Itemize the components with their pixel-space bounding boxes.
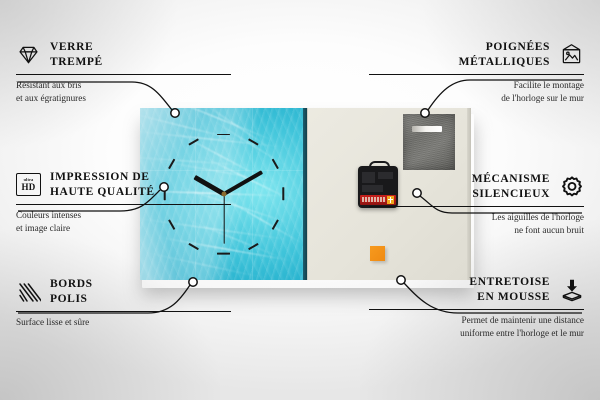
callout-subtitle: Permet de maintenir une distanceuniforme… xyxy=(369,314,584,339)
callout-rule xyxy=(369,309,584,310)
callout-title: MÉCANISMESILENCIEUX xyxy=(472,172,550,201)
foam-spacer xyxy=(370,246,385,261)
callout-title: BORDSPOLIS xyxy=(50,277,93,306)
callout-subtitle: Les aiguilles de l'horlogene font aucun … xyxy=(369,211,584,236)
gear-icon xyxy=(559,174,584,199)
ultra-hd-icon: ultra HD xyxy=(16,172,41,197)
press-down-pad-icon xyxy=(559,277,584,302)
callout-verre-trempe[interactable]: VERRETREMPÉ Résistant aux briset aux égr… xyxy=(16,40,231,104)
hour-marker-6 xyxy=(217,253,230,255)
callout-subtitle: Surface lisse et sûre xyxy=(16,316,231,328)
picture-frame-icon xyxy=(559,42,584,67)
callout-impression-haute-qualite[interactable]: ultra HD IMPRESSION DEHAUTE QUALITÉ Coul… xyxy=(16,170,231,234)
hanger-keyhole-slot xyxy=(412,126,442,132)
callout-title: ENTRETOISEEN MOUSSE xyxy=(469,275,550,304)
callout-title: IMPRESSION DEHAUTE QUALITÉ xyxy=(50,170,155,199)
callout-rule xyxy=(16,311,231,312)
callout-rule xyxy=(369,74,584,75)
metal-grain-texture xyxy=(403,114,455,170)
ultra-hd-bottom-text: HD xyxy=(22,183,36,192)
callout-rule xyxy=(369,206,584,207)
callout-mecanisme-silencieux[interactable]: MÉCANISMESILENCIEUX Les aiguilles de l'h… xyxy=(369,172,584,236)
callout-title: POIGNÉESMÉTALLIQUES xyxy=(459,40,550,69)
callout-subtitle: Facilite le montagede l'horloge sur le m… xyxy=(369,79,584,104)
diagonal-lines-icon xyxy=(16,279,41,304)
movement-hanger-loop xyxy=(369,161,390,172)
callout-bords-polis[interactable]: BORDSPOLIS Surface lisse et sûre xyxy=(16,277,231,329)
metal-hanger-plate xyxy=(403,114,455,170)
callout-poignees-metalliques[interactable]: POIGNÉESMÉTALLIQUES Facilite le montaged… xyxy=(369,40,584,104)
callout-rule xyxy=(16,74,231,75)
diamond-icon xyxy=(16,42,41,67)
callout-subtitle: Résistant aux briset aux égratignures xyxy=(16,79,231,104)
callout-title: VERRETREMPÉ xyxy=(50,40,103,69)
callout-rule xyxy=(16,204,231,205)
callout-entretoise-en-mousse[interactable]: ENTRETOISEEN MOUSSE Permet de maintenir … xyxy=(369,275,584,339)
hour-marker-3 xyxy=(282,187,284,200)
callout-subtitle: Couleurs intenseset image claire xyxy=(16,209,231,234)
hour-marker-12 xyxy=(217,134,230,136)
